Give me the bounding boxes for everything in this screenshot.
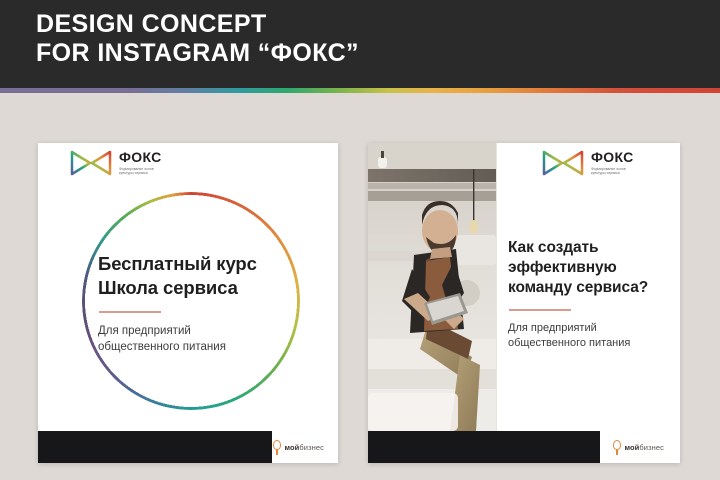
- partner-logo-text: мойбизнес: [624, 443, 664, 452]
- card-footer-black-bar: [368, 431, 600, 463]
- brand-tagline: Формирование основ культуры сервиса: [119, 167, 162, 176]
- barista-photo: [368, 143, 496, 431]
- header-bar: DESIGN CONCEPT FOR INSTAGRAM “ФОКС”: [0, 0, 720, 88]
- partner-logo: мойбизнес: [613, 440, 664, 455]
- poster-page: DESIGN CONCEPT FOR INSTAGRAM “ФОКС” мойб…: [0, 0, 720, 480]
- page-title: DESIGN CONCEPT FOR INSTAGRAM “ФОКС”: [36, 10, 359, 68]
- card-team-divider: [496, 143, 497, 431]
- brand-tagline: Формирование основ культуры сервиса: [591, 167, 634, 176]
- partner-logo: мойбизнес: [273, 440, 324, 455]
- card-course-subtitle: Для предприятий общественного питания: [98, 323, 310, 355]
- card-course-text-block: Бесплатный курс Школа сервиса Для предпр…: [98, 252, 310, 355]
- card-footer-black-bar: [38, 431, 272, 463]
- bowtie-gradient-logo-icon: [542, 150, 584, 176]
- brand-logo-card-course: ФОКС Формирование основ культуры сервиса: [70, 150, 162, 176]
- brand-name: ФОКС: [591, 150, 634, 164]
- brand-name: ФОКС: [119, 150, 162, 164]
- brand-logo-card-team: ФОКС Формирование основ культуры сервиса: [542, 150, 634, 176]
- headline-rule: [509, 309, 571, 311]
- card-course-headline: Бесплатный курс Школа сервиса: [98, 252, 310, 300]
- headline-rule: [99, 311, 161, 313]
- lightbulb-icon: [613, 440, 621, 455]
- card-team-subtitle: Для предприятий общественного питания: [508, 321, 676, 352]
- card-team-text-block: Как создать эффективную команду сервиса?…: [508, 238, 676, 352]
- partner-logo-text: мойбизнес: [284, 443, 324, 452]
- bowtie-gradient-logo-icon: [70, 150, 112, 176]
- lightbulb-icon: [273, 440, 281, 455]
- card-team-headline: Как создать эффективную команду сервиса?: [508, 238, 676, 298]
